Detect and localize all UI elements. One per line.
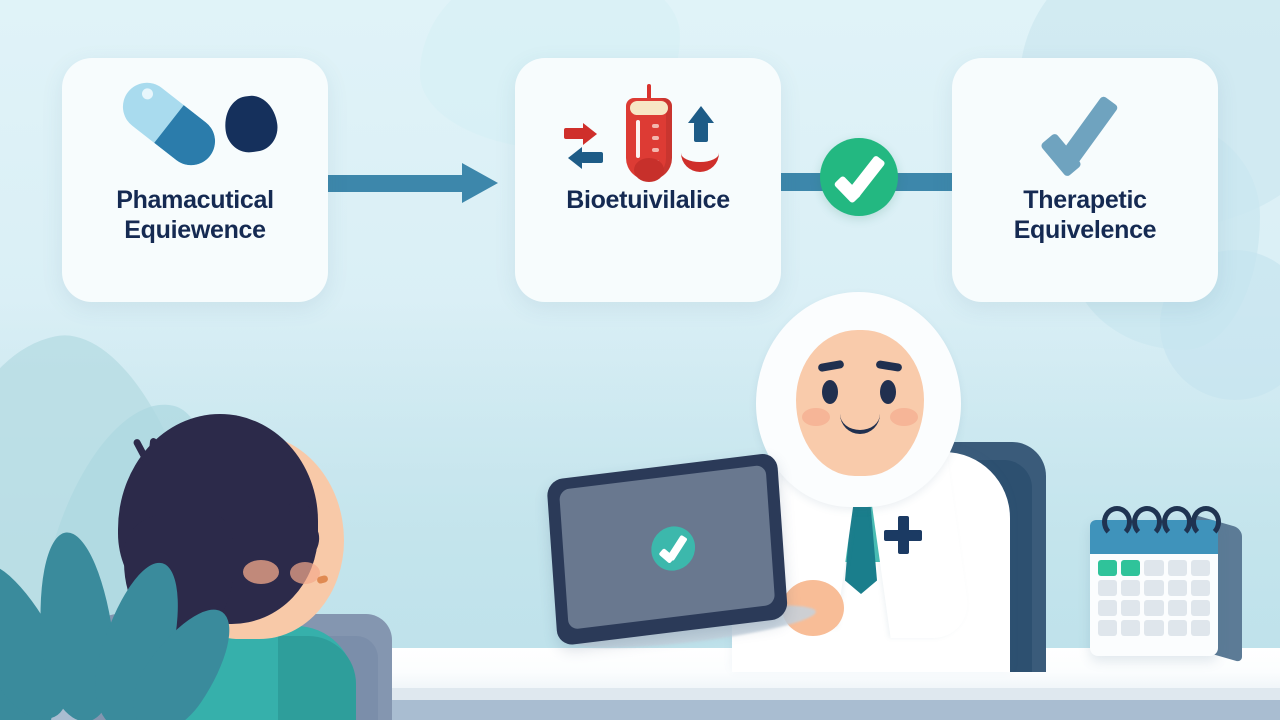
checkmark-icon	[985, 84, 1185, 180]
calendar-cell	[1144, 580, 1163, 596]
tablet-frame	[546, 452, 788, 646]
calendar-cell	[1191, 580, 1210, 596]
calendar-ring-4	[1191, 506, 1221, 538]
calendar-ring-3	[1162, 506, 1192, 538]
calendar-cell	[1191, 600, 1210, 616]
calendar-cell	[1168, 600, 1187, 616]
calendar-cell	[1121, 560, 1140, 576]
child-hair-tuft	[136, 438, 162, 466]
process-step-card-2[interactable]: Bioetuivilalice	[515, 58, 781, 302]
child-cheek-2	[290, 562, 320, 584]
illustration-canvas: Phamacutical Equiewence Bioetuivilalice …	[0, 0, 1280, 720]
process-step-label-3: Therapetic Equivelence	[966, 186, 1204, 245]
check-circle-icon	[820, 138, 898, 216]
calendar-cell	[1168, 580, 1187, 596]
calendar-cell	[1144, 600, 1163, 616]
doctor-cheek-left	[802, 408, 830, 426]
process-step-label-1: Phamacutical Equiewence	[76, 186, 314, 245]
tablet-device[interactable]	[546, 452, 793, 669]
blood-collection-tube-icon	[548, 84, 748, 180]
calendar-cell	[1121, 580, 1140, 596]
calendar-cell	[1098, 580, 1117, 596]
doctor-eye-left	[822, 380, 838, 404]
child-cheek	[243, 560, 279, 584]
medical-cross-icon	[884, 516, 922, 554]
doctor-face	[796, 330, 924, 476]
doctor-cheek-right	[890, 408, 918, 426]
calendar-cell	[1121, 600, 1140, 616]
calendar-ring-2	[1132, 506, 1162, 538]
calendar-ring-1	[1102, 506, 1132, 538]
calendar-cell	[1098, 620, 1117, 636]
pill-capsule-icon	[95, 84, 295, 180]
calendar-cell	[1121, 620, 1140, 636]
calendar-grid	[1098, 560, 1210, 636]
check-circle-icon	[650, 524, 697, 573]
tablet-screen[interactable]	[559, 465, 775, 630]
calendar-cell	[1098, 560, 1117, 576]
calendar-cell	[1168, 560, 1187, 576]
calendar-cell	[1191, 620, 1210, 636]
process-step-card-1[interactable]: Phamacutical Equiewence	[62, 58, 328, 302]
calendar-cell	[1144, 560, 1163, 576]
process-step-label-2: Bioetuivilalice	[529, 186, 767, 216]
arrow-right-icon	[326, 172, 498, 194]
calendar-cell	[1191, 560, 1210, 576]
doctor-eye-right	[880, 380, 896, 404]
calendar-cell	[1098, 600, 1117, 616]
process-step-card-3[interactable]: Therapetic Equivelence	[952, 58, 1218, 302]
calendar-cell	[1168, 620, 1187, 636]
desk-calendar	[1086, 504, 1246, 654]
calendar-cell	[1144, 620, 1163, 636]
